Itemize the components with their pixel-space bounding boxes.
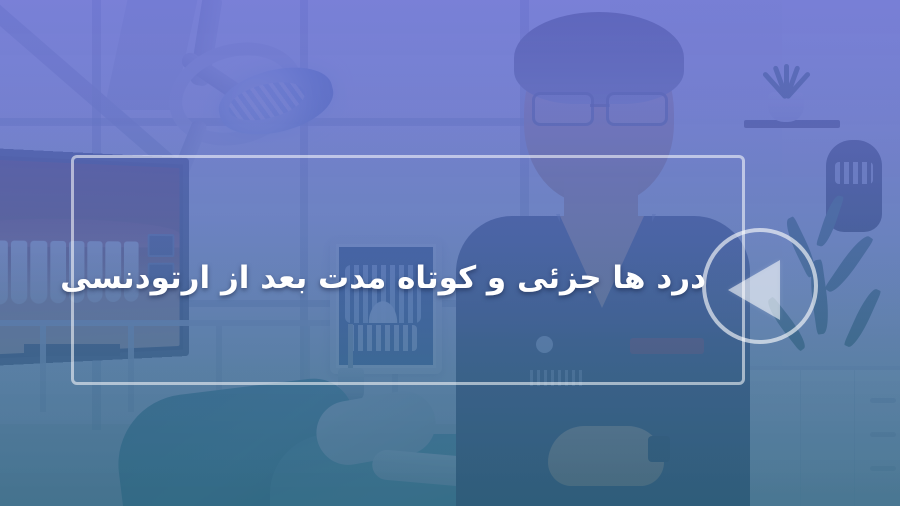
play-triangle-left-icon	[728, 260, 780, 320]
video-title: درد ها جزئی و کوتاه مدت بعد از ارتودنسی	[75, 259, 706, 298]
play-button[interactable]	[702, 228, 818, 344]
video-player[interactable]: درد ها جزئی و کوتاه مدت بعد از ارتودنسی	[0, 0, 900, 506]
